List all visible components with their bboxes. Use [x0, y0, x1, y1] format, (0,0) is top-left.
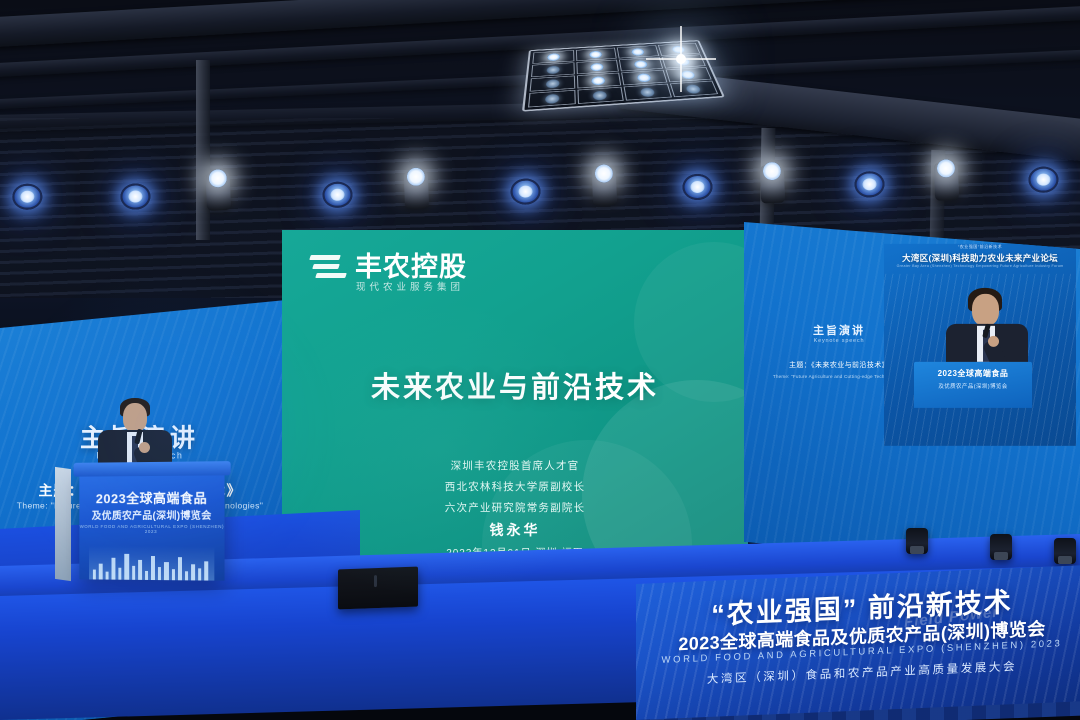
ceiling-bulb-icon — [545, 93, 559, 103]
feed-header-cn: 大湾区(深圳)科技助力农业未来产业论坛 — [884, 252, 1076, 264]
light-cell — [531, 62, 574, 77]
light-cell — [665, 67, 712, 82]
light-cell — [621, 70, 667, 85]
ceiling-bulb-icon — [631, 48, 645, 56]
light-flare — [676, 54, 686, 64]
floor-moving-light-icon — [906, 528, 928, 554]
conference-stage-photo: 主旨演讲 Keynote speech 主题：《未来农业与前沿技术》 Theme… — [0, 0, 1080, 720]
podium-line2: 及优质农产品(深圳)博览会 — [79, 507, 224, 522]
podium-line3: WORLD FOOD AND AGRICULTURAL EXPO (SHENZH… — [79, 524, 224, 534]
feed-header-en: Greater Bay Area (Shenzhen) Technology E… — [884, 264, 1076, 268]
ceiling-bulb-icon — [680, 70, 696, 79]
podium: 2023全球高端食品 及优质农产品(深圳)博览会 WORLD FOOD AND … — [79, 469, 224, 580]
company-name: 丰农控股 — [355, 254, 467, 281]
ceiling-bulb-icon — [685, 84, 702, 94]
light-cell — [530, 76, 575, 92]
podium-skyline-graphic — [89, 546, 214, 581]
fengnong-logo-icon — [310, 252, 346, 282]
feed-header-top: "农业强国"前沿新技术 — [884, 244, 1076, 250]
feed-podium: 2023全球高端食品 及优质农产品(深圳)博览会 — [914, 362, 1032, 408]
speaker-credential: 西北农林科技大学原副校长 — [282, 479, 748, 494]
light-cell — [528, 90, 575, 108]
ceiling-bulb-icon — [545, 79, 559, 88]
ceiling-bulb-icon — [547, 53, 560, 61]
company-tagline: 现代农业服务集团 — [356, 279, 464, 293]
company-logo: 丰农控股 — [310, 252, 467, 282]
floor-moving-light-icon — [990, 534, 1012, 560]
stage-monitor-speaker — [338, 567, 418, 610]
ceiling-bulb-icon — [593, 90, 608, 100]
moving-head-light-icon — [934, 162, 959, 201]
light-cell — [669, 81, 718, 98]
light-cell — [577, 87, 624, 104]
ceiling-bulb-icon — [591, 76, 605, 85]
live-camera-feed: "农业强国"前沿新技术 大湾区(深圳)科技助力农业未来产业论坛 Greater … — [884, 244, 1076, 446]
podium-side-pillar — [55, 467, 71, 581]
ceiling-bulb-icon — [590, 63, 604, 72]
light-cell — [576, 73, 621, 89]
ceiling-bulb-icon — [633, 60, 647, 68]
presentation-title: 未来农业与前沿技术 — [282, 364, 748, 406]
bottom-led-banner: Field Power “农业强国” 前沿新技术 2023全球高端食品及优质农产… — [636, 565, 1080, 720]
ceiling-bulb-icon — [589, 50, 602, 58]
podium-line1: 2023全球高端食品 — [79, 488, 224, 508]
ceiling-bulb-icon — [639, 87, 655, 97]
feed-podium-line1: 2023全球高端食品 — [914, 368, 1032, 379]
right-led-panel: 主旨演讲 Keynote speech 主题：《未来农业与前沿技术》 Theme… — [744, 222, 1080, 570]
ceiling-bulb-icon — [636, 73, 651, 82]
floor-moving-light-icon — [1054, 538, 1076, 564]
feed-podium-line2: 及优质农产品(深圳)博览会 — [914, 382, 1032, 390]
podium-top — [73, 461, 230, 477]
light-cell — [576, 60, 619, 75]
light-cell — [624, 84, 672, 101]
ceiling-bulb-icon — [671, 45, 685, 53]
ceiling-bulb-icon — [546, 65, 559, 74]
speaker-credential: 深圳丰农控股首席人才官 — [282, 458, 748, 473]
